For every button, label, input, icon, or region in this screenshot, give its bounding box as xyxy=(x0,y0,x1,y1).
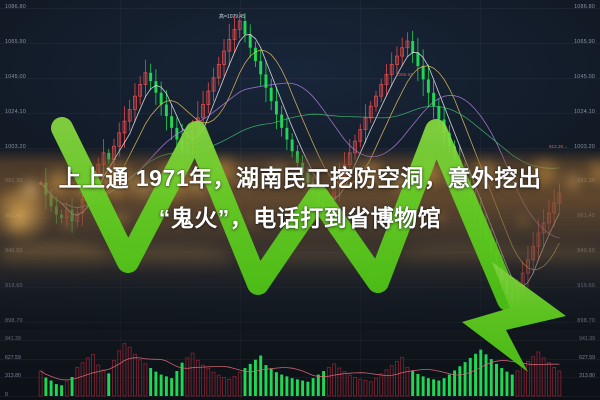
headline-text: 上上通 1971年，湖南民工挖防空洞，意外挖出 “鬼火”，电话打到省博物馆 xyxy=(0,158,600,238)
volume-tick-label: 941.39 xyxy=(5,337,21,342)
price-tick-label: 940.50 xyxy=(5,249,23,254)
price-tick-label: 1086.80 xyxy=(5,5,26,10)
price-tick-label: 1045.00 xyxy=(574,75,595,80)
screenshot-root: 1086.801065.901045.001024.101003.20982.3… xyxy=(0,0,600,400)
headline-line-1: 上上通 1971年，湖南民工挖防空洞，意外挖出 xyxy=(58,165,541,191)
volume-panel: 941.39627.59313.800 941.39627.59313.80 xyxy=(0,330,600,400)
volume-tick-label: 313.80 xyxy=(579,374,595,379)
price-tick-label: 1003.20 xyxy=(574,145,595,150)
high-price-annotation: 高=1079.45 xyxy=(219,15,245,20)
price-tick-label: 1003.20 xyxy=(5,145,26,150)
price-tick-label: 1024.10 xyxy=(5,110,26,115)
price-tick-label: 1086.80 xyxy=(574,5,595,10)
price-tick-label: 919.60 xyxy=(577,284,595,289)
low-price-annotation: 912.26→ xyxy=(549,145,568,150)
volume-tick-label: 0 xyxy=(5,393,8,398)
volume-tick-label: 627.59 xyxy=(579,356,595,361)
volume-bars xyxy=(0,330,600,400)
volume-tick-label: 941.39 xyxy=(579,337,595,342)
price-tick-label: 1065.90 xyxy=(5,40,26,45)
price-tick-label: 919.60 xyxy=(5,284,23,289)
price-tick-label: 1045.00 xyxy=(5,75,26,80)
price-tick-label: 1024.10 xyxy=(574,110,595,115)
price-tick-label: 940.50 xyxy=(577,249,595,254)
headline-line-2: “鬼火”，电话打到省博物馆 xyxy=(0,198,600,238)
price-tick-label: 898.70 xyxy=(5,319,23,324)
volume-tick-label: 313.80 xyxy=(5,374,21,379)
price-tick-label: 898.70 xyxy=(577,319,595,324)
mid-price-annotation: 1066.92 xyxy=(396,73,413,78)
volume-tick-label: 627.59 xyxy=(5,356,21,361)
price-tick-label: 1065.90 xyxy=(574,40,595,45)
